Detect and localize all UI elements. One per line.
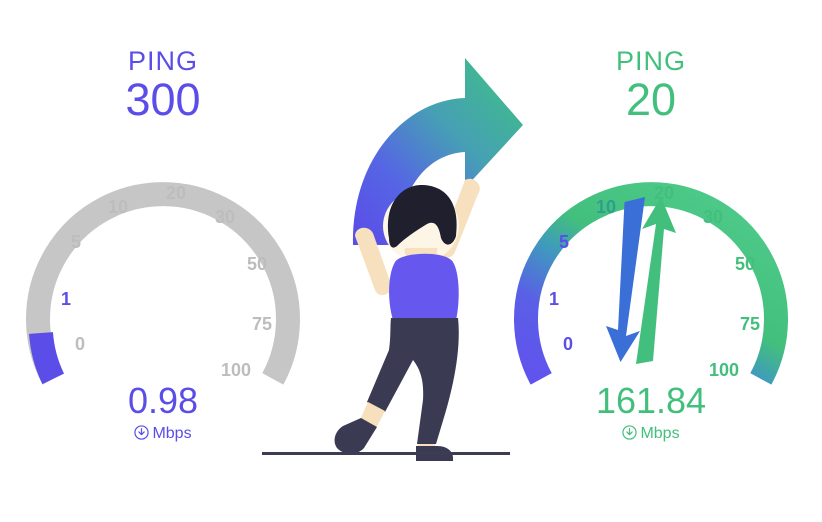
- gauge-tick-75-after: 75: [740, 314, 760, 334]
- ground-line: [262, 452, 510, 455]
- gauge-tick-100-before: 100: [221, 360, 251, 380]
- person-holding-arrow-illustration: [255, 40, 555, 480]
- speed-unit-label-before: Mbps: [152, 425, 191, 442]
- gauge-fill-before: [41, 333, 53, 379]
- pants: [367, 318, 459, 444]
- gauge-tick-30-before: 30: [215, 207, 235, 227]
- gauge-tick-10-after: 10: [596, 197, 616, 217]
- gauge-tick-20-after: 20: [654, 183, 674, 203]
- speed-test-comparison-graphic: PING 300 0 1 5 10 20 30 50 75 100 0.98: [0, 0, 822, 522]
- gauge-tick-50-after: 50: [735, 254, 755, 274]
- gauge-tick-0-before: 0: [75, 334, 85, 354]
- speed-unit-label-after: Mbps: [640, 425, 679, 442]
- gauge-tick-0-after: 0: [563, 334, 573, 354]
- download-icon: [622, 425, 637, 440]
- gauge-tick-20-before: 20: [166, 183, 186, 203]
- gauge-tick-1-before: 1: [61, 289, 71, 309]
- download-icon: [134, 425, 149, 440]
- gauge-tick-10-before: 10: [108, 197, 128, 217]
- gauge-tick-100-after: 100: [709, 360, 739, 380]
- gauge-needles-after: [606, 197, 676, 364]
- gauge-tick-5-before: 5: [71, 232, 81, 252]
- shirt: [389, 254, 459, 320]
- upload-arrow-icon: [636, 197, 676, 364]
- download-arrow-icon: [606, 197, 645, 362]
- gauge-tick-30-after: 30: [703, 207, 723, 227]
- gauge-tick-5-after: 5: [559, 232, 569, 252]
